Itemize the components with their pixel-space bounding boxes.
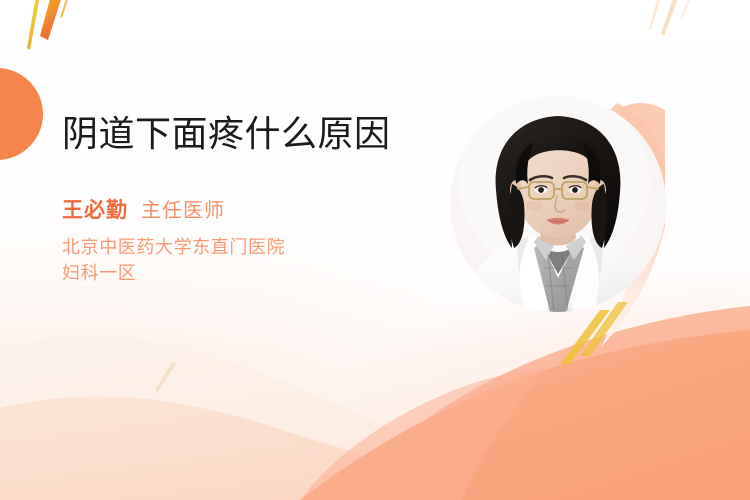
video-thumbnail-card: 阴道下面疼什么原因 王必勤 主任医师 北京中医药大学东直门医院 妇科一区 [0, 0, 750, 500]
diagonal-stripes-top-left-icon [14, 0, 94, 60]
diagonal-stripe-bottom-left-icon [148, 360, 184, 396]
page-title: 阴道下面疼什么原因 [62, 114, 422, 156]
doctor-hospital: 北京中医药大学东直门医院 妇科一区 [62, 235, 422, 286]
doctor-portrait-group [449, 95, 665, 369]
doctor-byline: 王必勤 主任医师 [62, 194, 422, 224]
doctor-avatar [450, 96, 666, 312]
doctor-name: 王必勤 [62, 194, 128, 224]
diagonal-stripes-top-right-icon [648, 0, 710, 42]
doctor-professional-title: 主任医师 [141, 194, 225, 223]
hospital-department-line: 妇科一区 [62, 261, 422, 287]
text-content-block: 阴道下面疼什么原因 王必勤 主任医师 北京中医药大学东直门医院 妇科一区 [62, 114, 422, 287]
doctor-photo-illustration [450, 96, 666, 312]
hospital-name-line: 北京中医药大学东直门医院 [62, 235, 422, 261]
